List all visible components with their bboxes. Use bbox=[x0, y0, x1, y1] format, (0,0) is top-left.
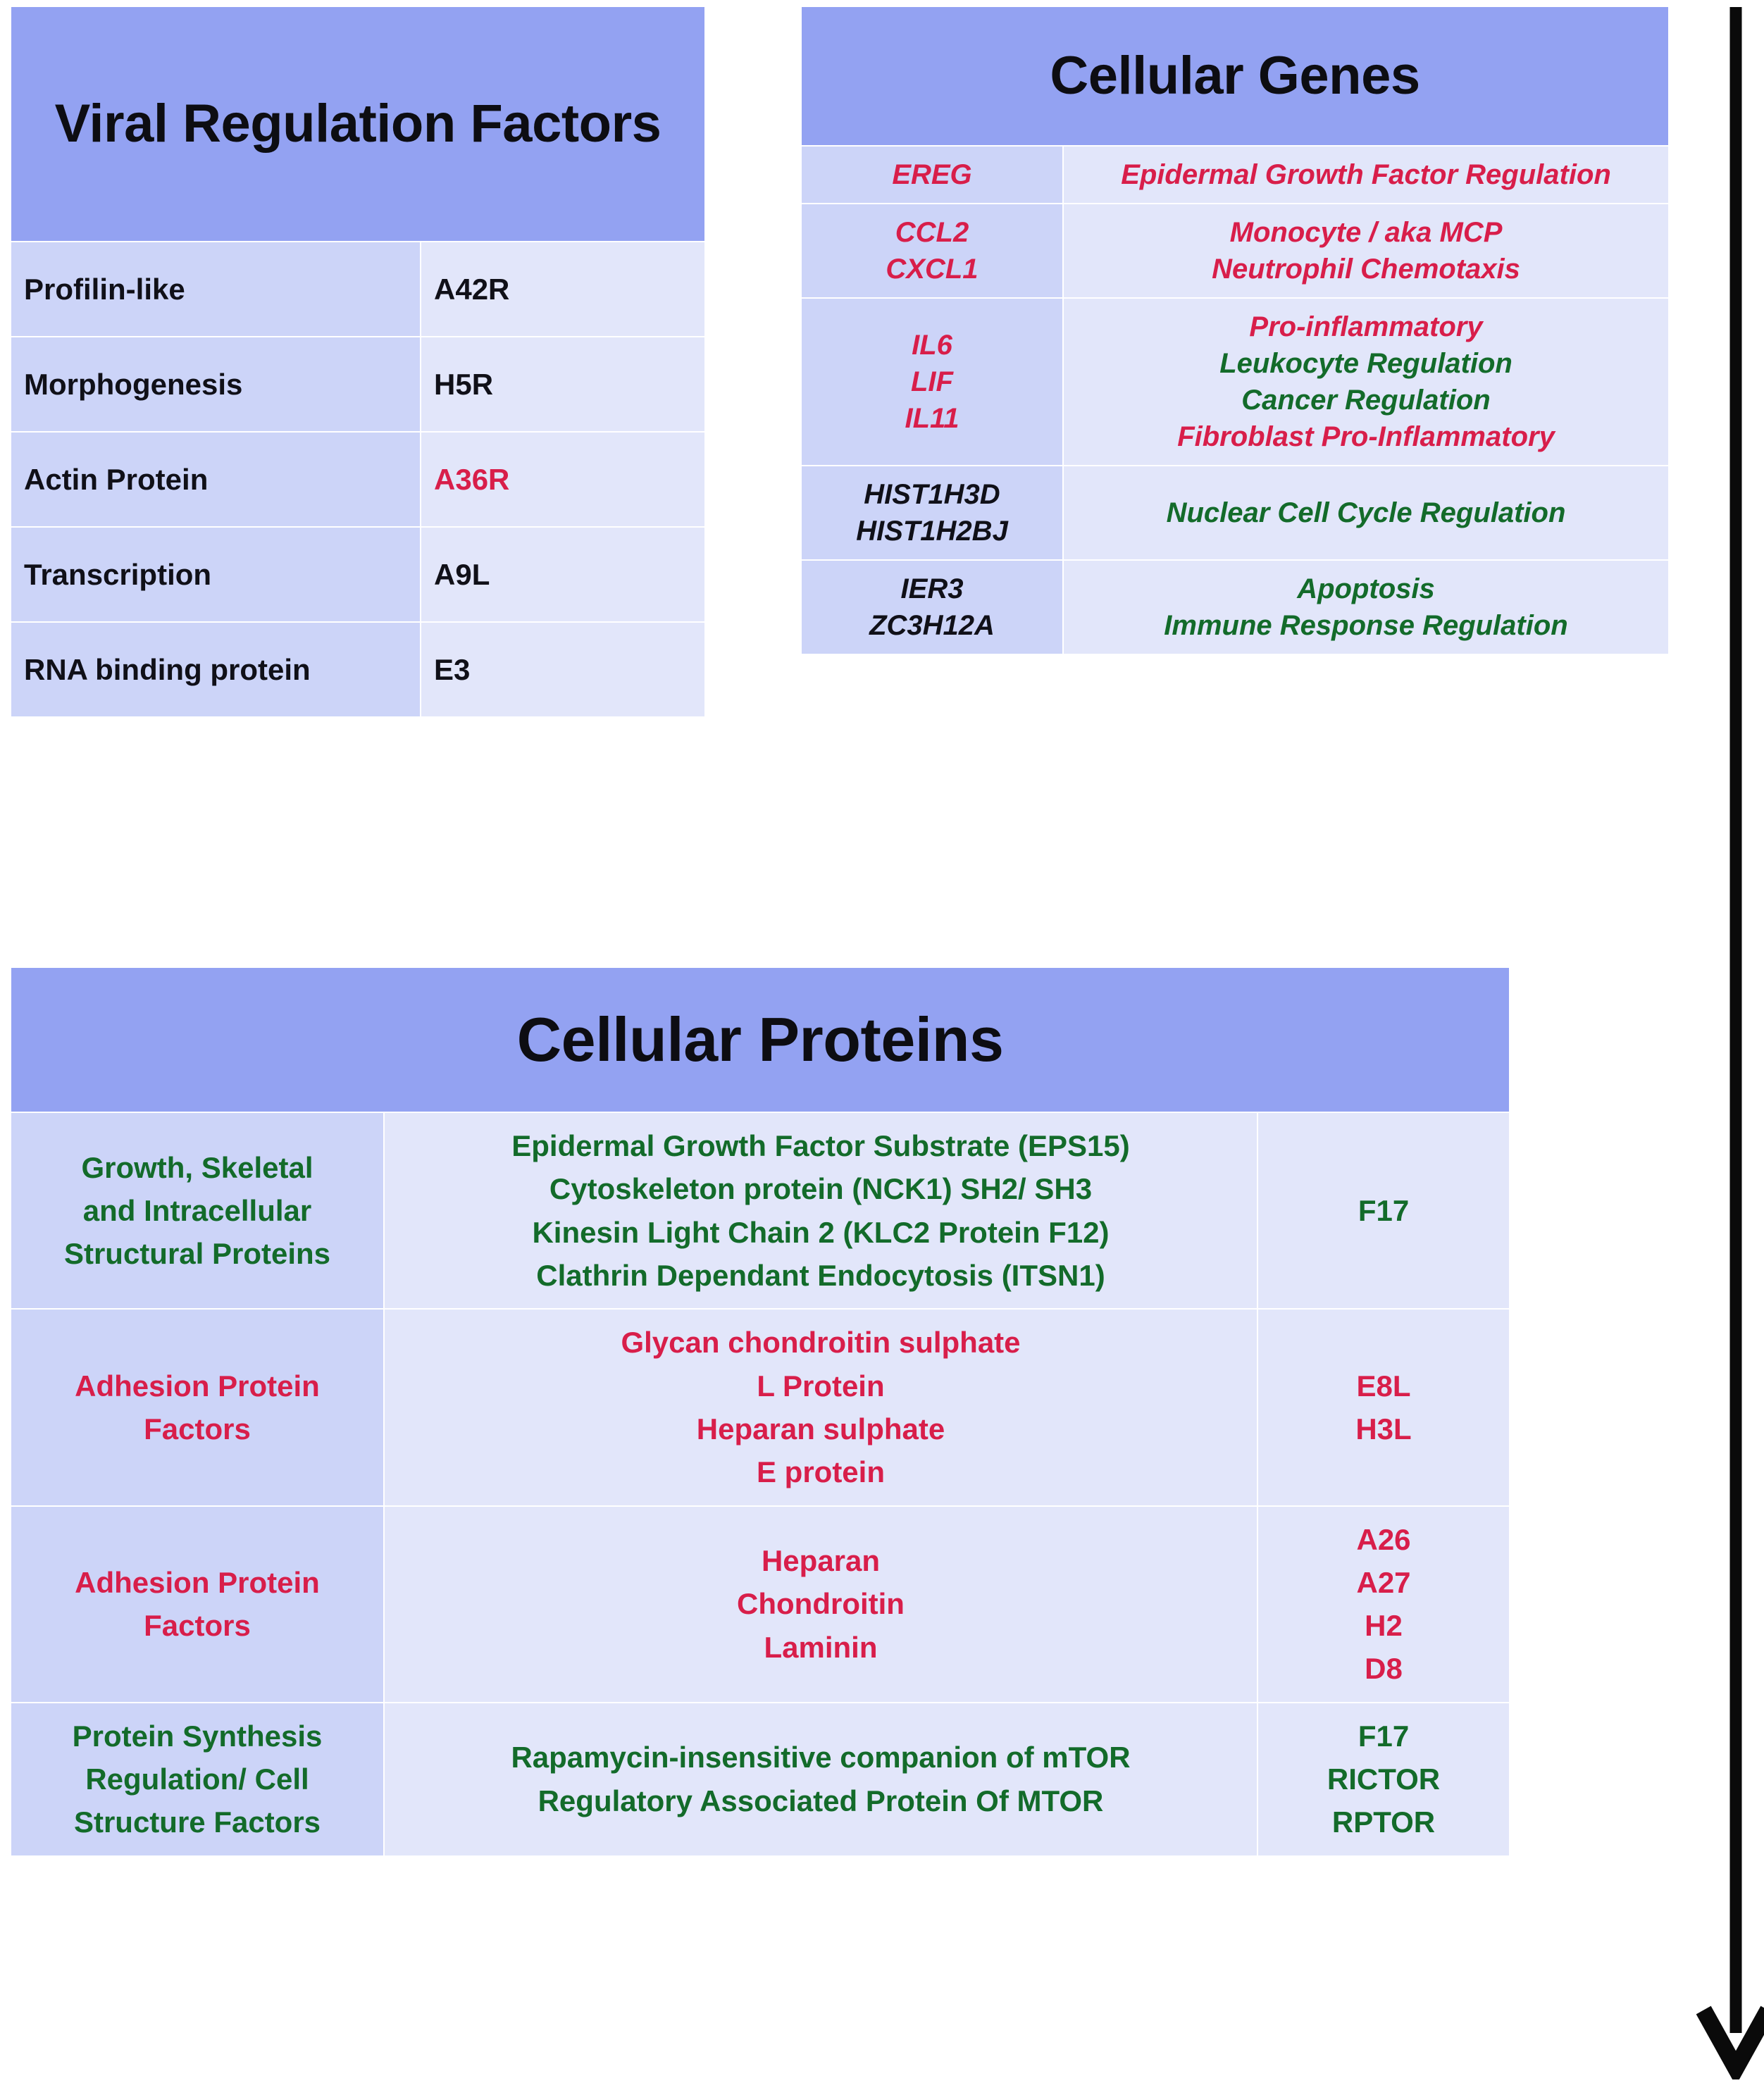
cell-line: RPTOR bbox=[1268, 1801, 1499, 1843]
protein-category-cell: Adhesion ProteinFactors bbox=[11, 1506, 384, 1703]
protein-detail-cell: Glycan chondroitin sulphateL ProteinHepa… bbox=[384, 1309, 1257, 1505]
viral-table-body: Profilin-likeA42RMorphogenesisH5RActin P… bbox=[11, 242, 705, 717]
protein-category-cell: Protein SynthesisRegulation/ CellStructu… bbox=[11, 1703, 384, 1856]
cell-line: Chondroitin bbox=[395, 1582, 1247, 1625]
table-header-row: Viral Regulation Factors bbox=[11, 6, 705, 242]
cell-line: IER3 bbox=[813, 571, 1051, 607]
cell-line: ZC3H12A bbox=[813, 607, 1051, 644]
cell-line: Factors bbox=[21, 1604, 373, 1647]
table-row: MorphogenesisH5R bbox=[11, 337, 705, 432]
cell-line: Apoptosis bbox=[1075, 571, 1657, 607]
viral-factor-cell: Morphogenesis bbox=[11, 337, 421, 432]
cell-line: F17 bbox=[1268, 1189, 1499, 1232]
table-row: Adhesion ProteinFactorsGlycan chondroiti… bbox=[11, 1309, 1510, 1505]
cell-line: HIST1H2BJ bbox=[813, 513, 1051, 549]
viral-gene-cell: A36R bbox=[421, 432, 705, 527]
cell-line: RICTOR bbox=[1268, 1758, 1499, 1801]
protein-detail-cell: Epidermal Growth Factor Substrate (EPS15… bbox=[384, 1112, 1257, 1309]
genes-table-title: Cellular Genes bbox=[801, 6, 1669, 146]
cell-line: Fibroblast Pro-Inflammatory bbox=[1075, 418, 1657, 455]
cell-line: A27 bbox=[1268, 1561, 1499, 1604]
protein-category-cell: Adhesion ProteinFactors bbox=[11, 1309, 384, 1505]
cell-line: Factors bbox=[21, 1407, 373, 1450]
protein-detail-cell: Rapamycin-insensitive companion of mTORR… bbox=[384, 1703, 1257, 1856]
cell-line: CXCL1 bbox=[813, 251, 1051, 287]
cell-line: Immune Response Regulation bbox=[1075, 607, 1657, 644]
viral-gene-cell: H5R bbox=[421, 337, 705, 432]
proteins-table-title: Cellular Proteins bbox=[11, 967, 1510, 1112]
cell-line: HIST1H3D bbox=[813, 476, 1051, 513]
cell-line: Heparan sulphate bbox=[395, 1407, 1247, 1450]
cell-line: Monocyte / aka MCP bbox=[1075, 214, 1657, 251]
cell-line: Leukocyte Regulation bbox=[1075, 345, 1657, 382]
cell-line: E8L bbox=[1268, 1364, 1499, 1407]
table-row: EREGEpidermal Growth Factor Regulation bbox=[801, 146, 1669, 204]
table-row: RNA binding proteinE3 bbox=[11, 622, 705, 717]
table-row: Growth, Skeletaland IntracellularStructu… bbox=[11, 1112, 1510, 1309]
proteins-table-body: Growth, Skeletaland IntracellularStructu… bbox=[11, 1112, 1510, 1856]
cell-line: H2 bbox=[1268, 1604, 1499, 1647]
cell-line: LIF bbox=[813, 363, 1051, 400]
cell-line: Neutrophil Chemotaxis bbox=[1075, 251, 1657, 287]
viral-factor-cell: Actin Protein bbox=[11, 432, 421, 527]
cell-line: Growth, Skeletal bbox=[21, 1146, 373, 1189]
cell-line: Laminin bbox=[395, 1626, 1247, 1669]
gene-name-cell: IER3ZC3H12A bbox=[801, 560, 1063, 654]
cell-line: CCL2 bbox=[813, 214, 1051, 251]
cell-line: Regulation/ Cell bbox=[21, 1758, 373, 1801]
cell-line: Adhesion Protein bbox=[21, 1364, 373, 1407]
cell-line: Epidermal Growth Factor Substrate (EPS15… bbox=[395, 1124, 1247, 1167]
cell-line: Heparan bbox=[395, 1539, 1247, 1582]
protein-category-cell: Growth, Skeletaland IntracellularStructu… bbox=[11, 1112, 384, 1309]
table-row: IL6LIFIL11Pro-inflammatoryLeukocyte Regu… bbox=[801, 298, 1669, 466]
cell-line: L Protein bbox=[395, 1364, 1247, 1407]
cellular-proteins-table: Cellular Proteins Growth, Skeletaland In… bbox=[10, 966, 1510, 1857]
table-row: TranscriptionA9L bbox=[11, 527, 705, 622]
viral-gene-cell: A9L bbox=[421, 527, 705, 622]
protein-viral-cell: E8LH3L bbox=[1257, 1309, 1510, 1505]
viral-factor-cell: RNA binding protein bbox=[11, 622, 421, 717]
table-row: Protein SynthesisRegulation/ CellStructu… bbox=[11, 1703, 1510, 1856]
gene-name-cell: IL6LIFIL11 bbox=[801, 298, 1063, 466]
table-row: CCL2CXCL1Monocyte / aka MCPNeutrophil Ch… bbox=[801, 204, 1669, 298]
protein-viral-cell: F17RICTORRPTOR bbox=[1257, 1703, 1510, 1856]
cell-line: Epidermal Growth Factor Regulation bbox=[1075, 156, 1657, 193]
table-row: Actin ProteinA36R bbox=[11, 432, 705, 527]
genes-table-body: EREGEpidermal Growth Factor RegulationCC… bbox=[801, 146, 1669, 654]
cell-line: and Intracellular bbox=[21, 1189, 373, 1232]
cell-line: F17 bbox=[1268, 1715, 1499, 1758]
flow-arrow-container bbox=[1694, 4, 1764, 2079]
gene-function-cell: Monocyte / aka MCPNeutrophil Chemotaxis bbox=[1063, 204, 1669, 298]
cell-line: Adhesion Protein bbox=[21, 1561, 373, 1604]
gene-name-cell: HIST1H3DHIST1H2BJ bbox=[801, 466, 1063, 560]
cell-line: D8 bbox=[1268, 1647, 1499, 1690]
table-header-row: Cellular Genes bbox=[801, 6, 1669, 146]
cell-line: Structure Factors bbox=[21, 1801, 373, 1843]
cell-line: Cytoskeleton protein (NCK1) SH2/ SH3 bbox=[395, 1167, 1247, 1210]
cell-line: Clathrin Dependant Endocytosis (ITSN1) bbox=[395, 1254, 1247, 1297]
cell-line: IL6 bbox=[813, 327, 1051, 363]
cell-line: E protein bbox=[395, 1450, 1247, 1493]
protein-viral-cell: F17 bbox=[1257, 1112, 1510, 1309]
down-arrow-icon bbox=[1694, 4, 1764, 2079]
cell-line: Pro-inflammatory bbox=[1075, 309, 1657, 345]
gene-function-cell: Epidermal Growth Factor Regulation bbox=[1063, 146, 1669, 204]
viral-gene-cell: A42R bbox=[421, 242, 705, 337]
protein-detail-cell: HeparanChondroitinLaminin bbox=[384, 1506, 1257, 1703]
table-header-row: Cellular Proteins bbox=[11, 967, 1510, 1112]
gene-function-cell: Nuclear Cell Cycle Regulation bbox=[1063, 466, 1669, 560]
gene-name-cell: EREG bbox=[801, 146, 1063, 204]
viral-factor-cell: Profilin-like bbox=[11, 242, 421, 337]
cell-line: IL11 bbox=[813, 400, 1051, 437]
cell-line: Glycan chondroitin sulphate bbox=[395, 1321, 1247, 1364]
gene-function-cell: ApoptosisImmune Response Regulation bbox=[1063, 560, 1669, 654]
table-row: Adhesion ProteinFactorsHeparanChondroiti… bbox=[11, 1506, 1510, 1703]
cell-line: Rapamycin-insensitive companion of mTOR bbox=[395, 1736, 1247, 1779]
cell-line: H3L bbox=[1268, 1407, 1499, 1450]
table-row: IER3ZC3H12AApoptosisImmune Response Regu… bbox=[801, 560, 1669, 654]
viral-factor-cell: Transcription bbox=[11, 527, 421, 622]
viral-gene-cell: E3 bbox=[421, 622, 705, 717]
cell-line: Nuclear Cell Cycle Regulation bbox=[1075, 495, 1657, 531]
cell-line: Protein Synthesis bbox=[21, 1715, 373, 1758]
gene-name-cell: CCL2CXCL1 bbox=[801, 204, 1063, 298]
table-row: HIST1H3DHIST1H2BJNuclear Cell Cycle Regu… bbox=[801, 466, 1669, 560]
table-row: Profilin-likeA42R bbox=[11, 242, 705, 337]
viral-table-title: Viral Regulation Factors bbox=[11, 6, 705, 242]
gene-function-cell: Pro-inflammatoryLeukocyte RegulationCanc… bbox=[1063, 298, 1669, 466]
viral-regulation-factors-table: Viral Regulation Factors Profilin-likeA4… bbox=[10, 6, 706, 718]
cell-line: A26 bbox=[1268, 1518, 1499, 1561]
cell-line: EREG bbox=[813, 156, 1051, 193]
cell-line: Structural Proteins bbox=[21, 1232, 373, 1275]
cell-line: Regulatory Associated Protein Of MTOR bbox=[395, 1779, 1247, 1822]
protein-viral-cell: A26A27H2D8 bbox=[1257, 1506, 1510, 1703]
cell-line: Kinesin Light Chain 2 (KLC2 Protein F12) bbox=[395, 1211, 1247, 1254]
cell-line: Cancer Regulation bbox=[1075, 382, 1657, 418]
cellular-genes-table: Cellular Genes EREGEpidermal Growth Fact… bbox=[800, 6, 1670, 655]
